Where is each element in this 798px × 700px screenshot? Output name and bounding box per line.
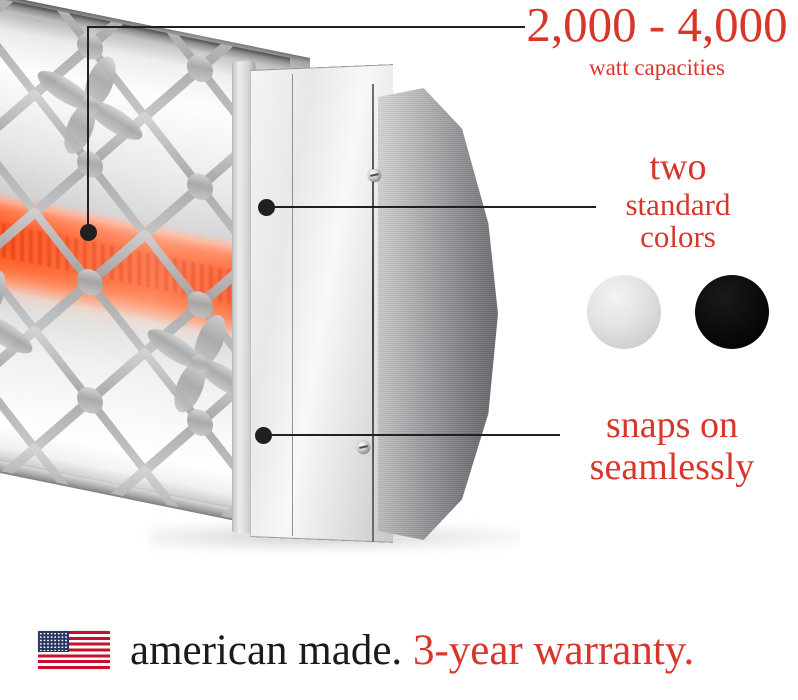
- leader-line-watt-horizontal: [87, 26, 525, 28]
- snaps-line-2: seamlessly: [546, 448, 798, 486]
- flag-canton: [38, 631, 69, 652]
- leader-line-colors: [266, 206, 596, 208]
- colors-line-1: two: [558, 148, 798, 186]
- callout-dot-snaps: [255, 427, 272, 444]
- usa-flag-icon: [38, 631, 110, 669]
- leader-line-watt-vertical: [87, 26, 89, 234]
- screw-icon-bottom: [357, 441, 370, 454]
- color-swatch-silver[interactable]: [587, 275, 661, 349]
- endcap-panel-seam: [292, 74, 293, 536]
- callout-dot-watt: [80, 224, 97, 241]
- snaps-line-1: snaps on: [546, 406, 798, 444]
- watt-capacities-label: watt capacities: [516, 56, 798, 79]
- color-swatch-black[interactable]: [695, 275, 769, 349]
- colors-line-3: colors: [558, 221, 798, 252]
- callout-watt-capacity: 2,000 - 4,000 watt capacities: [516, 0, 798, 79]
- footer-bar: american made. 3-year warranty.: [0, 600, 798, 700]
- endcap-side-face: [378, 88, 498, 540]
- leader-line-snaps: [263, 434, 560, 436]
- callout-snaps-on: snaps on seamlessly: [546, 406, 798, 486]
- endcap-edge-seam: [372, 84, 374, 542]
- infographic-stage: 2,000 - 4,000 watt capacities two standa…: [0, 0, 798, 700]
- colors-line-2: standard: [558, 189, 798, 220]
- footer-text: american made. 3-year warranty.: [130, 629, 694, 672]
- callout-dot-colors: [258, 199, 275, 216]
- american-made-text: american made.: [130, 627, 402, 674]
- product-illustration: [0, 0, 520, 575]
- callout-standard-colors: two standard colors: [558, 148, 798, 252]
- watt-range-text: 2,000 - 4,000: [516, 0, 798, 49]
- color-swatch-group: [558, 275, 798, 349]
- warranty-text: 3-year warranty.: [413, 627, 694, 674]
- screw-icon-top: [368, 169, 381, 182]
